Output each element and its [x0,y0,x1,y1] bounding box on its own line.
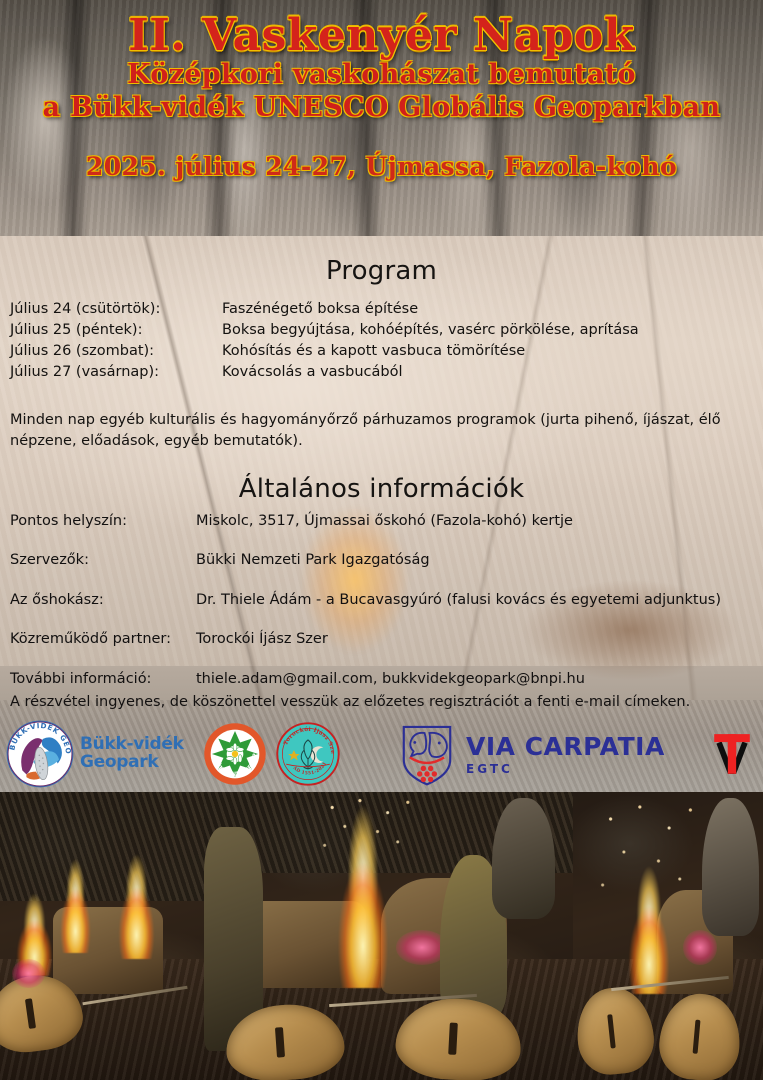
bukki-nemzeti-park-icon: BÜKKI NEMZETI PARK [203,722,267,786]
photo-flame [110,850,163,959]
photo-thatched-roof [0,792,204,901]
photo-flame [53,855,98,953]
info-row: Közreműködő partner: Torockói Íjász Szer [10,631,762,670]
info-value: Miskolc, 3517, Újmassai őskohó (Fazola-k… [196,513,762,552]
info-value: Dr. Thiele Ádám - a Bucavasgyúró (falusi… [196,592,762,631]
poster-title: II. Vaskenyér Napok [0,0,763,59]
program-table: Július 24 (csütörtök): Faszénégető boksa… [10,300,760,385]
geopark-wordmark-line2: Geopark [80,754,184,772]
poster-subtitle-line2: a Bükk-vidék UNESCO Globális Geoparkban [0,92,763,123]
program-day: Július 25 (péntek): [10,321,222,342]
program-row: Július 26 (szombat): Kohósítás és a kapo… [10,342,760,363]
general-info-heading: Általános információk [0,474,763,504]
info-row-contact: További információ: thiele.adam@gmail.co… [10,671,762,688]
info-label: Közreműködő partner: [10,631,196,670]
logo-miskolci-egyetem [706,728,758,780]
poster-subtitle-line1: Középkori vaskohászat bemutató [0,59,763,90]
program-row: Július 24 (csütörtök): Faszénégető boksa… [10,300,760,321]
photo-embers [12,959,45,988]
info-label: Szervezők: [10,552,196,591]
via-carpatia-wordmark: VIA CARPATIA EGTC [466,734,665,776]
info-label: Pontos helyszín: [10,513,196,552]
info-row: Az őshokász: Dr. Thiele Ádám - a Bucavas… [10,592,762,631]
info-value: Bükki Nemzeti Park Igazgatóság [196,552,762,591]
photo-furnace-right [573,792,763,1080]
photo-person [492,798,555,919]
geopark-wordmark: Bükk-vidék Geopark [80,736,184,772]
program-day: Július 24 (csütörtök): [10,300,222,321]
program-day: Július 26 (szombat): [10,342,222,363]
bukk-videk-geopark-icon: BÜKK-VIDÉK GEOPARK [6,720,74,788]
photo-sparks [584,792,717,942]
program-row: Július 27 (vasárnap): Kovácsolás a vasbu… [10,363,760,384]
info-row: Szervezők: Bükki Nemzeti Park Igazgatósá… [10,552,762,591]
info-value-emails[interactable]: thiele.adam@gmail.com, bukkvidekgeopark@… [196,671,762,688]
partner-logos: BÜKK-VIDÉK GEOPARK Bükk-vidék Geopark [0,718,763,794]
program-day: Július 27 (vasárnap): [10,363,222,384]
logo-via-carpatia: VIA CARPATIA EGTC [396,722,665,788]
photo-sparks [307,792,432,878]
poster-header: II. Vaskenyér Napok Középkori vaskohásza… [0,0,763,220]
program-row: Július 25 (péntek): Boksa begyújtása, ko… [10,321,760,342]
info-row: Pontos helyszín: Miskolc, 3517, Újmassai… [10,513,762,552]
info-value: Torockói Íjász Szer [196,631,762,670]
photo-person [702,798,759,936]
via-carpatia-title: VIA CARPATIA [466,734,665,759]
program-activity: Kohósítás és a kapott vasbuca tömörítése [222,342,760,363]
general-info-table: Pontos helyszín: Miskolc, 3517, Újmassai… [10,513,762,688]
program-heading: Program [0,256,763,286]
photo-furnace-left [0,792,204,1080]
photo-furnace-center [204,792,573,1080]
university-t-mark-icon [706,728,758,780]
torockoi-ijasz-szer-icon: Torockói Íjász Szer AD 1551-2021 [276,722,340,786]
info-label: Az őshokász: [10,592,196,631]
logo-bukk-videk-geopark: BÜKK-VIDÉK GEOPARK Bükk-vidék Geopark [6,720,184,788]
program-activity: Kovácsolás a vasbucából [222,363,760,384]
program-activity: Boksa begyújtása, kohóépítés, vasérc pör… [222,321,760,342]
program-activity: Faszénégető boksa építése [222,300,760,321]
poster: II. Vaskenyér Napok Középkori vaskohásza… [0,0,763,1080]
program-note: Minden nap egyéb kulturális és hagyomány… [10,410,758,452]
photo-strip [0,792,763,1080]
via-carpatia-shield-icon [396,722,458,788]
poster-date-location: 2025. július 24-27, Újmassa, Fazola-kohó [0,124,763,181]
registration-footnote: A részvétel ingyenes, de köszönettel ves… [10,694,758,710]
logo-torockoi-ijasz-szer: Torockói Íjász Szer AD 1551-2021 [276,722,340,786]
logo-bukki-nemzeti-park: BÜKKI NEMZETI PARK [203,722,267,786]
via-carpatia-subtitle: EGTC [466,762,665,776]
info-label: További információ: [10,671,196,688]
